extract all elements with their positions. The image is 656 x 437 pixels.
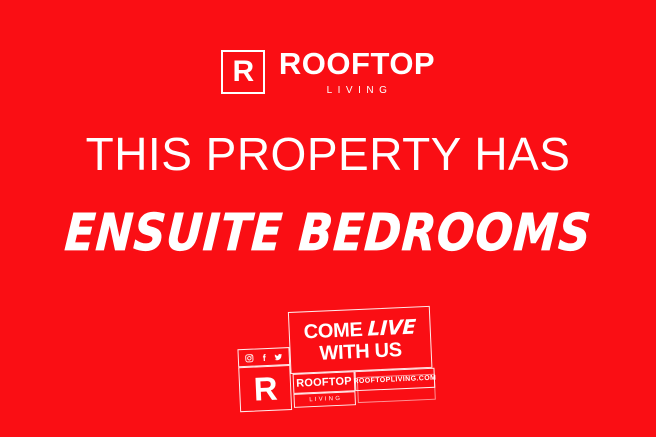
twitter-icon[interactable] [274, 352, 283, 361]
headline-primary: THIS PROPERTY HAS [0, 131, 656, 177]
badge-website-box[interactable]: ROOFTOPLIVING.COM [355, 368, 436, 391]
come-live-with-us-badge: R COME LIVE WITH US ROOFTOP LIVING ROOFT… [234, 300, 439, 421]
brand-logo: R ROOFTOP LIVING [0, 48, 656, 96]
promo-poster: R ROOFTOP LIVING THIS PROPERTY HAS ENSUI… [0, 0, 656, 437]
facebook-icon[interactable] [259, 352, 268, 361]
headline-secondary-wrap: ENSUITE BEDROOMS [0, 212, 656, 256]
headline-secondary: ENSUITE BEDROOMS [63, 208, 593, 259]
instagram-icon[interactable] [244, 353, 253, 362]
badge-subwordmark: LIVING [307, 396, 342, 404]
logo-subwordmark: LIVING [322, 86, 393, 96]
badge-cta-word-come: COME [303, 319, 363, 342]
social-icons-row [237, 347, 290, 367]
logo-mark-box: R [221, 50, 265, 94]
badge-cta-line1: COME LIVE [303, 316, 416, 342]
logo-mark-letter: R [233, 57, 254, 87]
badge-wordmark-box: ROOFTOP [293, 371, 356, 394]
badge-logo-mark-letter: R [253, 372, 277, 406]
logo-wordmark-group: ROOFTOP LIVING [279, 48, 435, 96]
badge-cta-word-live: LIVE [367, 316, 416, 338]
logo-wordmark: ROOFTOP [279, 48, 435, 79]
badge-cta-box: COME LIVE WITH US [288, 306, 433, 374]
badge-cta-line2: WITH US [319, 340, 402, 364]
badge-website: ROOFTOPLIVING.COM [353, 374, 436, 385]
badge-subwordmark-box: LIVING [293, 391, 356, 408]
badge-wordmark: ROOFTOP [296, 376, 352, 389]
badge-logo-mark: R [238, 365, 292, 412]
